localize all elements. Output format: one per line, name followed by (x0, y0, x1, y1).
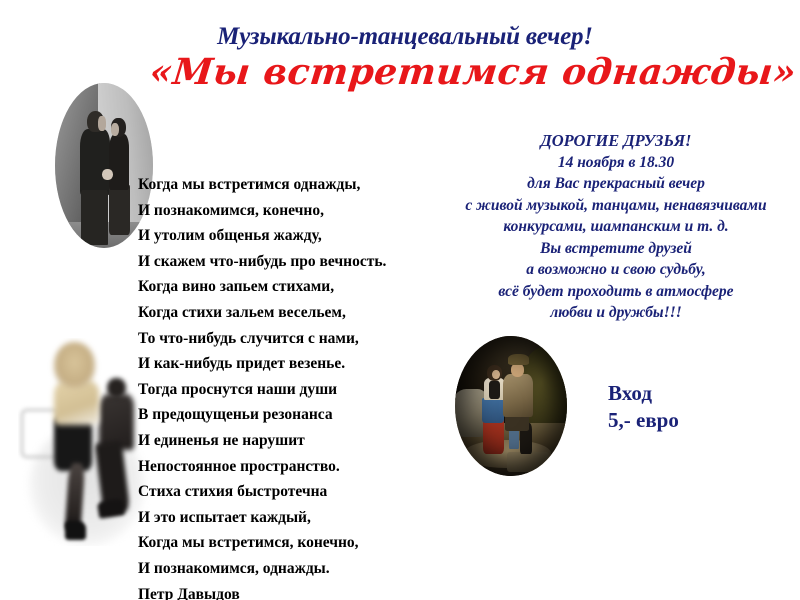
poster-canvas: Музыкально-танцевальный вечер! «Мы встре… (0, 0, 800, 600)
photo-couple-woman-torso (109, 134, 130, 190)
poem-line: И единенья не нарушит (138, 428, 438, 454)
photo-couple-woman-face (111, 123, 119, 136)
announcement-line: а возможно и свою судьбу, (432, 259, 800, 281)
entry-price-block: Вход 5,- евро (608, 380, 679, 434)
poem-line: Когда мы встретимся, конечно, (138, 530, 438, 556)
poem-line: То что-нибудь случится с нами, (138, 326, 438, 352)
poem-author: Петр Давыдов (138, 582, 438, 600)
poem-line: Когда стихи зальем весельем, (138, 300, 438, 326)
painting-woman-bodice (489, 381, 500, 399)
photo-couple-joined-hands (102, 169, 113, 181)
announcement-line: Вы встретите друзей (432, 238, 800, 260)
poem-line: Непостоянное пространство. (138, 454, 438, 480)
photo-couple-woman-skirt (109, 185, 131, 235)
poem-line: И познакомимся, конечно, (138, 198, 438, 224)
poem-line: И познакомимся, однажды. (138, 556, 438, 582)
painting-woman-apron (482, 398, 504, 423)
poem-line: И скажем что-нибудь про вечность. (138, 249, 438, 275)
headline-main-title: Музыкально-танцевальный вечер! (150, 24, 660, 50)
headline-script-title: «Мы встретимся однажды» (148, 52, 662, 93)
poem-line: И это испытает каждый, (138, 505, 438, 531)
poster-headline: Музыкально-танцевальный вечер! «Мы встре… (150, 24, 660, 94)
announcement-heading: ДОРОГИЕ ДРУЗЬЯ! (432, 130, 800, 152)
painting-oval (455, 336, 567, 476)
announcement-line: всё будет проходить в атмосфере (432, 281, 800, 303)
announcement-block: ДОРОГИЕ ДРУЗЬЯ! 14 ноября в 18.30 для Ва… (432, 130, 800, 324)
poem-line: Стиха стихия быстротечна (138, 479, 438, 505)
photo-couple-man-torso (80, 129, 110, 195)
entry-label: Вход (608, 380, 679, 407)
entry-price: 5,- евро (608, 407, 679, 434)
photo-dancing-couple (18, 338, 153, 546)
poem-line: В предощущеньи резонанса (138, 402, 438, 428)
photo-couple-man-legs (81, 190, 107, 244)
poem-line: Когда мы встретимся однажды, (138, 172, 438, 198)
poem-line: Тогда проснутся наши души (138, 377, 438, 403)
photo-dancers-woman-hair (54, 342, 95, 388)
poem-line: И утолим общенья жажду, (138, 223, 438, 249)
announcement-line: любви и дружбы!!! (432, 302, 800, 324)
announcement-line: для Вас прекрасный вечер (432, 173, 800, 195)
poem-block: Когда мы встретимся однажды, И познакоми… (138, 172, 438, 600)
poem-line: Когда вино запьем стихами, (138, 274, 438, 300)
painting-man-coat (503, 374, 533, 417)
announcement-line: с живой музыкой, танцами, ненавязчивами (432, 195, 800, 217)
painting-man-hat (508, 354, 529, 365)
painting-stone-step (507, 452, 550, 472)
photo-dancers-woman-shoe (65, 521, 85, 540)
photo-dancers-man-head (107, 378, 126, 399)
announcement-date-line: 14 ноября в 18.30 (432, 152, 800, 174)
announcement-line: конкурсами, шампанским и т. д. (432, 216, 800, 238)
poem-line: И как-нибудь придет везенье. (138, 351, 438, 377)
photo-couple-man-face (98, 116, 106, 131)
painting-woman-face (492, 370, 500, 380)
